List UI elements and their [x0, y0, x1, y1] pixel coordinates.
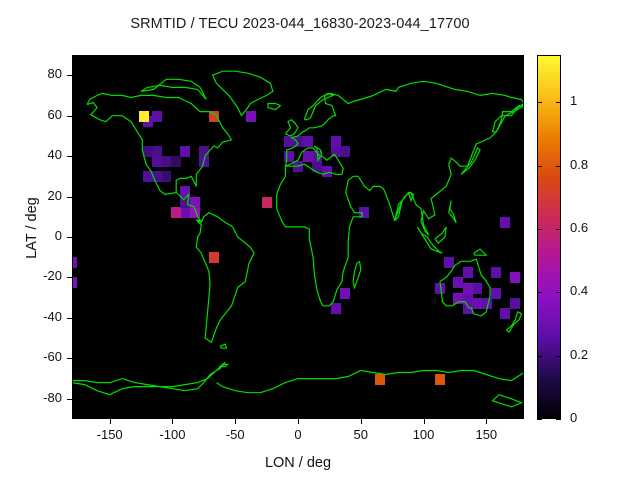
- colorbar-tick-label: 0.6: [570, 220, 588, 235]
- x-axis-tick-label: -50: [205, 427, 265, 442]
- y-axis-tick: [67, 399, 72, 400]
- y-axis-tick-label: 0: [2, 228, 62, 243]
- colorbar-tick-label: 0.8: [570, 157, 588, 172]
- y-axis-tick: [67, 75, 72, 76]
- y-axis-tick-label: -40: [2, 309, 62, 324]
- colorbar-tick: [556, 229, 561, 230]
- coastline-path: [213, 71, 273, 116]
- colorbar-tick: [556, 292, 561, 293]
- x-axis-tick-label: -150: [80, 427, 140, 442]
- x-axis-tick: [235, 419, 236, 424]
- coastline-path: [176, 140, 231, 193]
- x-axis-tick: [424, 419, 425, 424]
- colorbar-tick: [537, 419, 542, 420]
- x-axis-tick: [172, 419, 173, 424]
- colorbar-tick: [556, 166, 561, 167]
- coastline-path: [395, 106, 524, 235]
- x-axis-tick: [110, 419, 111, 424]
- colorbar-tick: [556, 102, 561, 103]
- coastline-path: [417, 227, 442, 253]
- coastline-path: [268, 104, 281, 110]
- map-plot-area[interactable]: [72, 55, 524, 419]
- coastline-path: [474, 249, 487, 255]
- colorbar-tick-label: 0.4: [570, 283, 588, 298]
- coastline-path: [285, 120, 298, 136]
- colorbar-tick-label: 0.2: [570, 347, 588, 362]
- coastline-path: [435, 227, 446, 243]
- colorbar-gradient: [538, 56, 560, 418]
- coastline-path: [304, 93, 333, 119]
- y-axis-tick-label: 80: [2, 66, 62, 81]
- y-axis-tick: [67, 277, 72, 278]
- x-axis-tick: [298, 419, 299, 424]
- colorbar-tick: [556, 356, 561, 357]
- x-axis-tick-label: 0: [268, 427, 328, 442]
- coastline-path: [277, 166, 395, 306]
- y-axis-tick-label: 40: [2, 147, 62, 162]
- coastline-path: [216, 371, 524, 393]
- coastline-path: [196, 213, 254, 343]
- coastline-path: [461, 148, 480, 174]
- colorbar-tick-label: 0: [570, 410, 577, 425]
- coastline-path: [87, 103, 201, 221]
- coastline-path: [353, 261, 361, 287]
- colorbar-tick: [537, 356, 542, 357]
- chart-title: SRMTID / TECU 2023-044_16830-2023-044_17…: [0, 16, 600, 32]
- y-axis-tick-label: 20: [2, 188, 62, 203]
- colorbar-tick: [537, 292, 542, 293]
- coastline-path: [141, 79, 206, 99]
- figure-canvas: SRMTID / TECU 2023-044_16830-2023-044_17…: [0, 0, 640, 480]
- coastline-path: [449, 201, 457, 223]
- colorbar-tick-label: 1: [570, 93, 577, 108]
- coastline-overlay: [72, 55, 524, 419]
- y-axis-tick-label: -20: [2, 268, 62, 283]
- y-axis-tick-label: -80: [2, 390, 62, 405]
- coastline-path: [72, 362, 225, 394]
- y-axis-tick: [67, 156, 72, 157]
- y-axis-tick-label: 60: [2, 107, 62, 122]
- colorbar-tick: [556, 419, 561, 420]
- coastline-path: [220, 344, 226, 348]
- coastline-path: [493, 395, 522, 407]
- x-axis-title: LON / deg: [72, 455, 524, 471]
- colorbar-tick: [537, 102, 542, 103]
- coastline-path: [440, 259, 490, 316]
- x-axis-tick-label: 50: [331, 427, 391, 442]
- coastline-path: [285, 146, 343, 174]
- coastline-path: [506, 312, 521, 332]
- coastline-path: [87, 93, 231, 139]
- coastline-path: [220, 364, 228, 366]
- colorbar-tick: [537, 229, 542, 230]
- x-axis-tick-label: -100: [142, 427, 202, 442]
- y-axis-tick: [67, 358, 72, 359]
- y-axis-tick: [67, 197, 72, 198]
- colorbar[interactable]: [537, 55, 561, 419]
- x-axis-tick-label: 100: [394, 427, 454, 442]
- x-axis-tick: [361, 419, 362, 424]
- x-axis-tick-label: 150: [456, 427, 516, 442]
- y-axis-tick: [67, 116, 72, 117]
- y-axis-tick: [67, 318, 72, 319]
- y-axis-tick-label: -60: [2, 349, 62, 364]
- y-axis-tick: [67, 237, 72, 238]
- colorbar-tick: [537, 166, 542, 167]
- x-axis-tick: [486, 419, 487, 424]
